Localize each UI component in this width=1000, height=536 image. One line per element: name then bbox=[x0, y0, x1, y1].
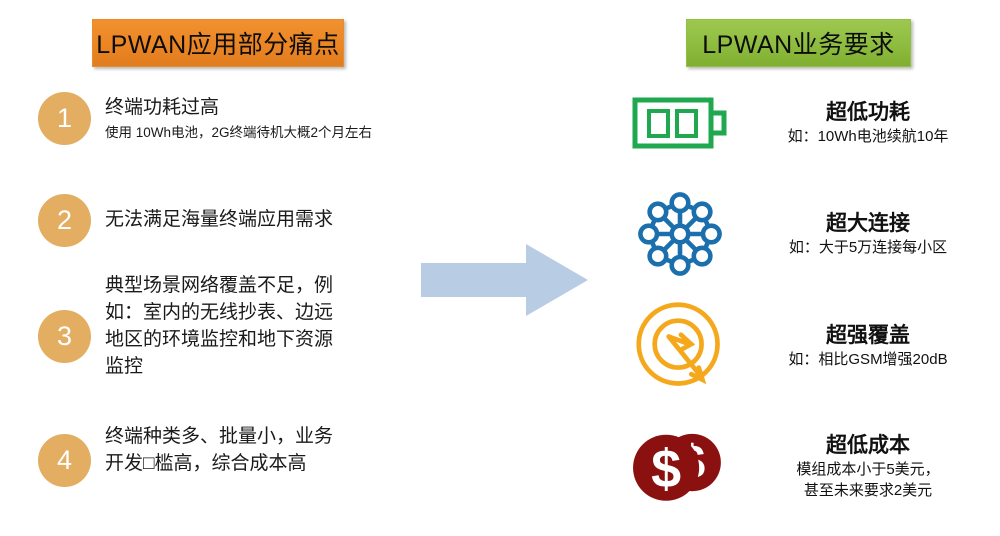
pain-point-subtitle: 使用 10Wh电池，2G终端待机大概2个月左右 bbox=[105, 123, 410, 143]
requirement-subtitle: 模组成本小于5美元， 甚至未来要求2美元 bbox=[740, 459, 996, 501]
pain-point-text-4: 终端种类多、批量小，业务 开发□槛高，综合成本高 bbox=[105, 423, 410, 477]
dollar-coins-icon: $ $ bbox=[620, 426, 740, 506]
pain-point-number-label: 2 bbox=[57, 207, 72, 234]
requirement-text-2: 超大连接 如：大于5万连接每小区 bbox=[740, 210, 1000, 258]
pain-point-text-3: 典型场景网络覆盖不足，例 如：室内的无线抄表、边远 地区的环境监控和地下资源 监… bbox=[105, 272, 410, 380]
pain-point-item-3: 3 典型场景网络覆盖不足，例 如：室内的无线抄表、边远 地区的环境监控和地下资源… bbox=[0, 272, 420, 402]
requirement-title: 超强覆盖 bbox=[740, 322, 996, 349]
requirement-title: 超低功耗 bbox=[740, 99, 996, 126]
pain-point-number-label: 3 bbox=[57, 323, 72, 350]
pain-point-number-label: 1 bbox=[57, 105, 72, 132]
pain-point-number-1: 1 bbox=[38, 92, 91, 145]
network-mesh-icon bbox=[620, 188, 740, 280]
coverage-radar-icon bbox=[620, 301, 740, 391]
pain-point-item-1: 1 终端功耗过高 使用 10Wh电池，2G终端待机大概2个月左右 bbox=[0, 84, 420, 164]
requirement-title: 超低成本 bbox=[740, 432, 996, 459]
right-banner-label: LPWAN业务要求 bbox=[702, 25, 894, 61]
slide-canvas: LPWAN应用部分痛点 LPWAN业务要求 1 终端功耗过高 使用 10Wh电池… bbox=[0, 0, 1000, 536]
pain-point-title: 终端种类多、批量小，业务 开发□槛高，综合成本高 bbox=[105, 423, 410, 477]
requirement-item-2: 超大连接 如：大于5万连接每小区 bbox=[620, 186, 1000, 282]
pain-point-item-2: 2 无法满足海量终端应用需求 bbox=[0, 194, 420, 254]
pain-point-title: 无法满足海量终端应用需求 bbox=[105, 206, 410, 233]
requirement-subtitle: 如：10Wh电池续航10年 bbox=[740, 126, 996, 147]
requirement-text-3: 超强覆盖 如：相比GSM增强20dB bbox=[740, 322, 1000, 370]
battery-icon bbox=[620, 94, 740, 152]
requirement-title: 超大连接 bbox=[740, 210, 996, 237]
requirement-item-3: 超强覆盖 如：相比GSM增强20dB bbox=[620, 298, 1000, 394]
right-section-banner: LPWAN业务要求 bbox=[686, 19, 911, 67]
pain-point-item-4: 4 终端种类多、批量小，业务 开发□槛高，综合成本高 bbox=[0, 420, 420, 500]
requirement-item-1: 超低功耗 如：10Wh电池续航10年 bbox=[620, 84, 1000, 162]
requirement-text-1: 超低功耗 如：10Wh电池续航10年 bbox=[740, 99, 1000, 147]
pain-point-number-label: 4 bbox=[57, 447, 72, 474]
requirement-text-4: 超低成本 模组成本小于5美元， 甚至未来要求2美元 bbox=[740, 432, 1000, 501]
pain-point-title: 终端功耗过高 bbox=[105, 94, 410, 121]
left-section-banner: LPWAN应用部分痛点 bbox=[92, 19, 344, 67]
requirement-subtitle: 如：相比GSM增强20dB bbox=[740, 349, 996, 370]
requirement-item-4: $ $ 超低成本 模组成本小于5美元， 甚至未来要求2美元 bbox=[620, 416, 1000, 516]
svg-text:$: $ bbox=[651, 439, 681, 499]
pain-point-title: 典型场景网络覆盖不足，例 如：室内的无线抄表、边远 地区的环境监控和地下资源 监… bbox=[105, 272, 410, 380]
pain-point-text-2: 无法满足海量终端应用需求 bbox=[105, 206, 410, 233]
requirement-subtitle: 如：大于5万连接每小区 bbox=[740, 237, 996, 258]
pain-point-number-4: 4 bbox=[38, 434, 91, 487]
right-arrow-icon bbox=[421, 244, 588, 316]
pain-point-text-1: 终端功耗过高 使用 10Wh电池，2G终端待机大概2个月左右 bbox=[105, 94, 410, 143]
left-banner-label: LPWAN应用部分痛点 bbox=[96, 25, 339, 61]
pain-point-number-2: 2 bbox=[38, 194, 91, 247]
pain-point-number-3: 3 bbox=[38, 310, 91, 363]
